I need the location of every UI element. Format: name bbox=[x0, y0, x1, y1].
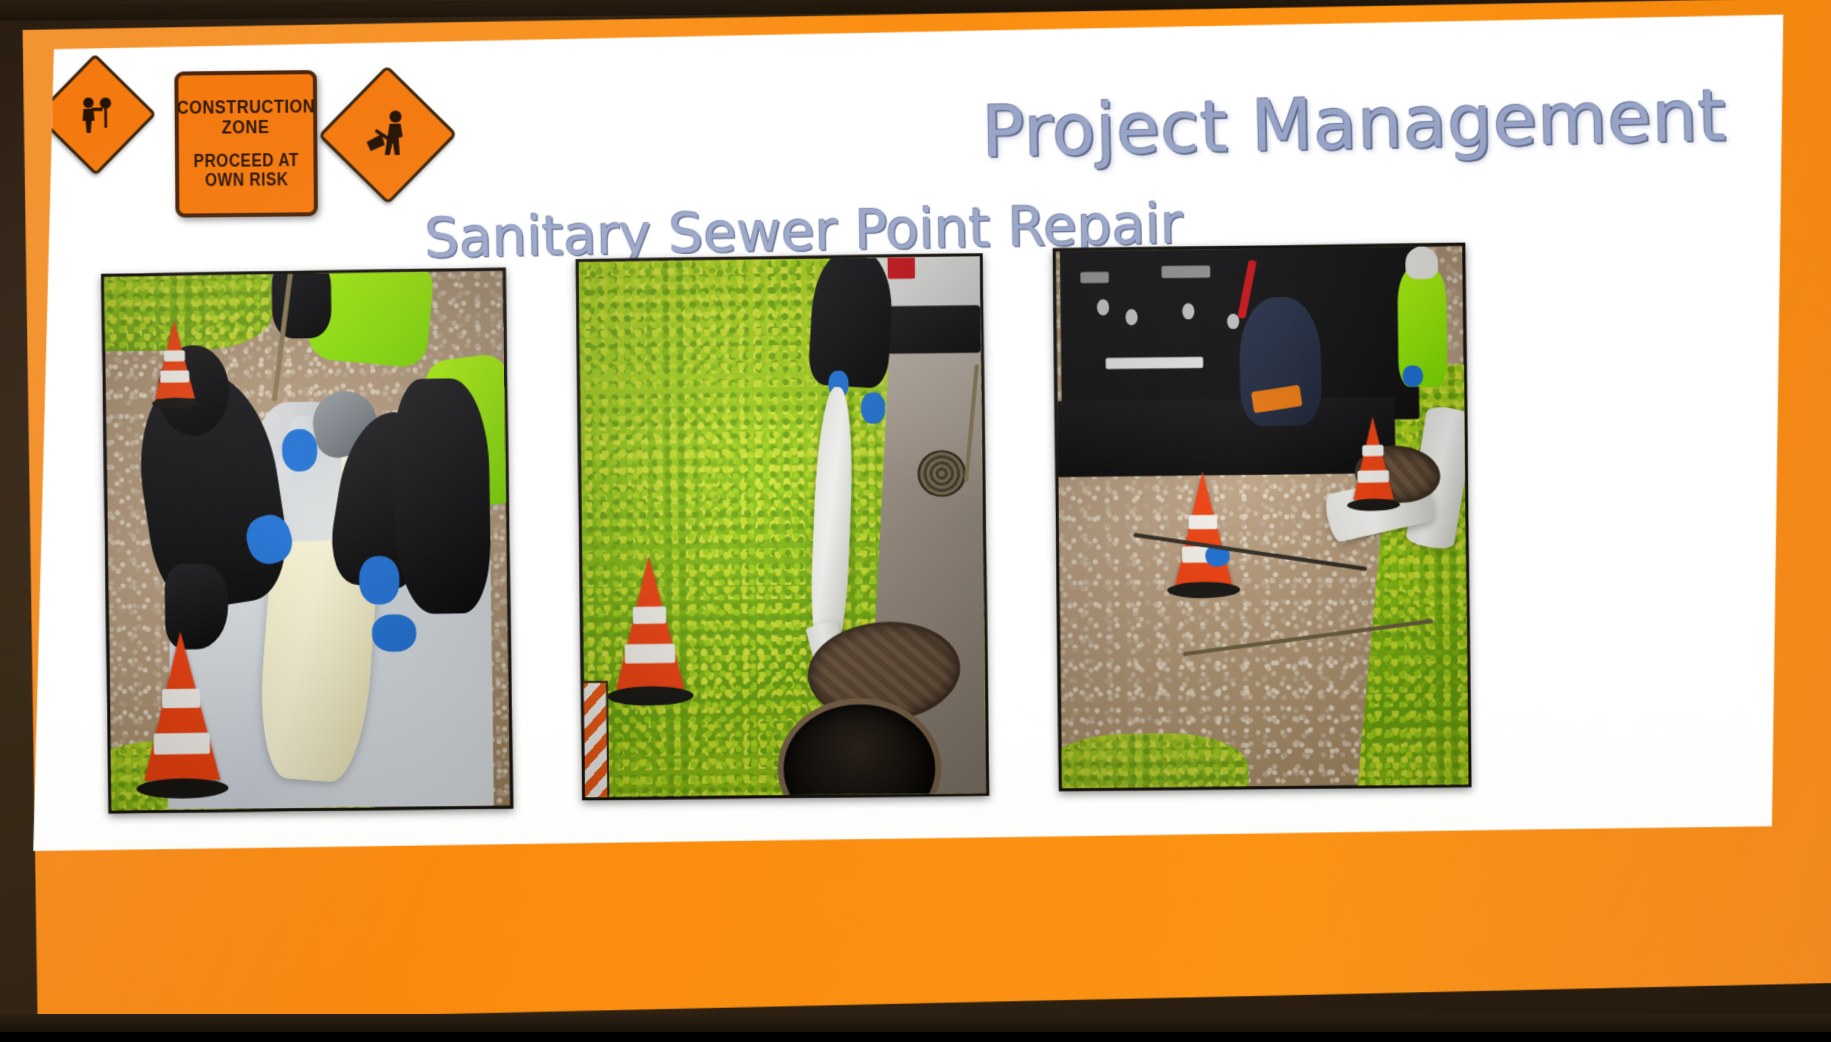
photo3-panel-bar-a bbox=[1080, 272, 1109, 283]
slide-perspective-wrapper: CONSTRUCTION ZONE PROCEED AT OWN RISK bbox=[0, 0, 1831, 1042]
photo3-worker-hardhat bbox=[1405, 246, 1438, 279]
photo3-panel-bar-b bbox=[1161, 265, 1210, 277]
photo1-glove-b bbox=[281, 429, 317, 472]
photo3-glove-a bbox=[1403, 365, 1424, 387]
photo3-grass-bottom bbox=[1053, 733, 1249, 792]
photo3-traffic-cone-right bbox=[1338, 392, 1409, 511]
photo-equipment-trailer-setup bbox=[1053, 243, 1472, 791]
photo1-glove-d bbox=[372, 614, 416, 652]
photo2-traffic-cone bbox=[594, 528, 704, 706]
photo3-knob-c bbox=[1182, 303, 1194, 319]
photo3-knob-a bbox=[1097, 299, 1109, 315]
photo2-worker-body bbox=[808, 253, 896, 389]
photo-gallery bbox=[27, 15, 1792, 851]
photo3-traffic-cone-left bbox=[1155, 448, 1250, 599]
photo-liner-staged-at-manhole bbox=[576, 253, 990, 800]
photo1-glove-c bbox=[359, 556, 400, 605]
photo2-truck-marking bbox=[887, 253, 915, 279]
photo2-barricade bbox=[580, 680, 610, 800]
screen-bezel-bottom bbox=[0, 1014, 1831, 1032]
photo1-worker-right-body bbox=[392, 378, 491, 615]
photo-crew-wetting-out-liner bbox=[101, 268, 513, 814]
photo1-traffic-cone-lower bbox=[121, 595, 243, 799]
photo1-traffic-cone-upper bbox=[140, 297, 209, 410]
photo2-glove-b bbox=[861, 392, 885, 424]
projected-screen-photo: CONSTRUCTION ZONE PROCEED AT OWN RISK bbox=[0, 0, 1831, 1032]
slide-white-content-area: CONSTRUCTION ZONE PROCEED AT OWN RISK bbox=[27, 15, 1792, 851]
photo3-panel-bar-c bbox=[1106, 357, 1204, 369]
